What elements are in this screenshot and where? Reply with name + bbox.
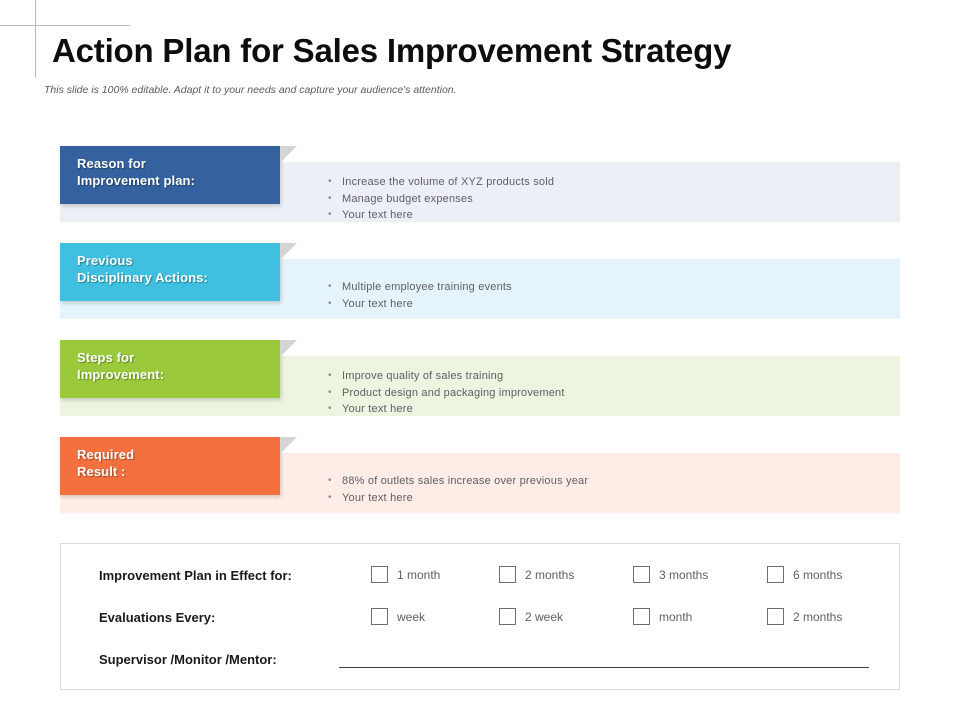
checkbox-option[interactable]: week <box>371 608 425 625</box>
checkbox-option[interactable]: 2 week <box>499 608 563 625</box>
row-category-label: Steps for Improvement: <box>77 349 280 383</box>
checkbox-label: 2 months <box>793 610 842 624</box>
form-row-label: Improvement Plan in Effect for: <box>99 566 292 586</box>
checkbox-label: 6 months <box>793 568 842 582</box>
form-panel: Improvement Plan in Effect for:1 month2 … <box>60 543 900 690</box>
checkbox-icon[interactable] <box>633 566 650 583</box>
corner-mark-vertical <box>35 0 36 78</box>
bullet-item: 88% of outlets sales increase over previ… <box>342 473 588 490</box>
bullet-item: Improve quality of sales training <box>342 368 565 385</box>
checkbox-label: week <box>397 610 425 624</box>
row-bullet-list: Improve quality of sales trainingProduct… <box>328 368 565 418</box>
row-bullet-list: Multiple employee training eventsYour te… <box>328 279 512 312</box>
bullet-item: Your text here <box>342 296 512 313</box>
signature-row: Supervisor /Monitor /Mentor: <box>61 650 901 680</box>
checkbox-icon[interactable] <box>633 608 650 625</box>
row-category-tab[interactable]: Reason for Improvement plan: <box>60 146 280 204</box>
bullet-item: Manage budget expenses <box>342 191 554 208</box>
folded-corner-icon <box>280 243 297 260</box>
checkbox-icon[interactable] <box>371 566 388 583</box>
folded-corner-icon <box>280 437 297 454</box>
bullet-item: Your text here <box>342 490 588 507</box>
form-row-label: Evaluations Every: <box>99 608 215 628</box>
row-category-label: Previous Disciplinary Actions: <box>77 252 280 286</box>
bullet-item: Product design and packaging improvement <box>342 385 565 402</box>
row-bullet-list: Increase the volume of XYZ products sold… <box>328 174 554 224</box>
signature-label: Supervisor /Monitor /Mentor: <box>99 650 277 670</box>
checkbox-option[interactable]: 2 months <box>767 608 842 625</box>
checkbox-label: 3 months <box>659 568 708 582</box>
checkbox-option[interactable]: 6 months <box>767 566 842 583</box>
checkbox-option[interactable]: 1 month <box>371 566 440 583</box>
row-category-label: Required Result : <box>77 446 280 480</box>
checkbox-option[interactable]: 3 months <box>633 566 708 583</box>
folded-corner-icon <box>280 146 297 163</box>
row-category-label: Reason for Improvement plan: <box>77 155 280 189</box>
bullet-item: Your text here <box>342 401 565 418</box>
checkbox-option[interactable]: 2 months <box>499 566 574 583</box>
checkbox-icon[interactable] <box>499 566 516 583</box>
folded-corner-icon <box>280 340 297 357</box>
form-row: Improvement Plan in Effect for:1 month2 … <box>61 566 901 596</box>
bullet-item: Multiple employee training events <box>342 279 512 296</box>
signature-input-line[interactable] <box>339 667 869 668</box>
checkbox-icon[interactable] <box>499 608 516 625</box>
slide-canvas: Action Plan for Sales Improvement Strate… <box>0 0 960 720</box>
page-title: Action Plan for Sales Improvement Strate… <box>52 32 731 70</box>
form-row: Evaluations Every:week2 weekmonth2 month… <box>61 608 901 638</box>
checkbox-label: 1 month <box>397 568 440 582</box>
bullet-item: Your text here <box>342 207 554 224</box>
checkbox-label: month <box>659 610 692 624</box>
bullet-item: Increase the volume of XYZ products sold <box>342 174 554 191</box>
page-subtitle: This slide is 100% editable. Adapt it to… <box>44 84 457 96</box>
corner-mark-horizontal <box>0 25 130 26</box>
row-category-tab[interactable]: Steps for Improvement: <box>60 340 280 398</box>
checkbox-label: 2 months <box>525 568 574 582</box>
checkbox-icon[interactable] <box>371 608 388 625</box>
row-category-tab[interactable]: Required Result : <box>60 437 280 495</box>
row-bullet-list: 88% of outlets sales increase over previ… <box>328 473 588 506</box>
checkbox-option[interactable]: month <box>633 608 692 625</box>
row-category-tab[interactable]: Previous Disciplinary Actions: <box>60 243 280 301</box>
checkbox-icon[interactable] <box>767 566 784 583</box>
checkbox-icon[interactable] <box>767 608 784 625</box>
checkbox-label: 2 week <box>525 610 563 624</box>
